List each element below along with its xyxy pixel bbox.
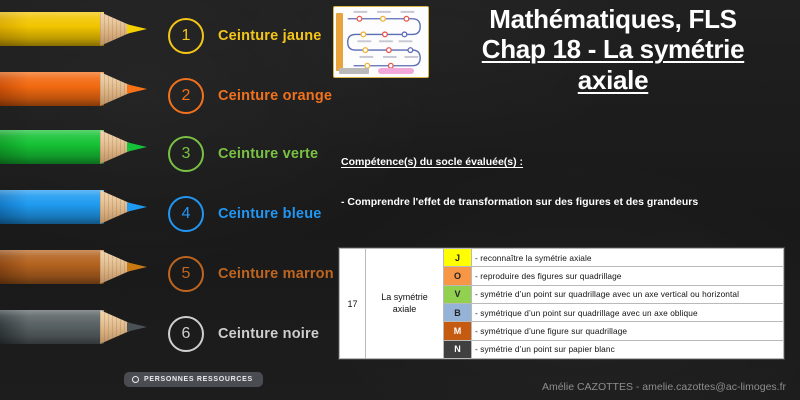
pencil-body (0, 130, 104, 164)
thumbnail-sidebar (336, 13, 343, 71)
table-letter-cell-B: B (444, 303, 472, 321)
pencil-lead (127, 72, 147, 106)
belt-item-4[interactable]: 4Ceinture bleue (168, 196, 322, 232)
skills-table: 17La symétrie axialeJ- reconnaître la sy… (339, 248, 784, 359)
pencil-jaune (0, 12, 148, 46)
title-line-3: axiale (430, 65, 796, 95)
table-letter-cell-M: M (444, 322, 472, 340)
belt-item-5[interactable]: 5Ceinture marron (168, 256, 334, 292)
belt-number-circle: 1 (168, 18, 204, 54)
belt-label: Ceinture bleue (218, 206, 322, 222)
belt-number-circle: 5 (168, 256, 204, 292)
table-letter-cell-V: V (444, 285, 472, 303)
belt-number-circle: 6 (168, 316, 204, 352)
belt-number-circle: 3 (168, 136, 204, 172)
pencil-body (0, 250, 104, 284)
pencil-orange (0, 72, 148, 106)
table-index-cell: 17 (340, 249, 366, 359)
author-footer: Amélie CAZOTTES - amelie.cazottes@ac-lim… (0, 381, 786, 393)
table-letter-cell-O: O (444, 267, 472, 285)
pencil-body (0, 72, 104, 106)
table-description-cell: - reproduire des figures sur quadrillage (472, 267, 784, 285)
pencil-lead (127, 250, 147, 284)
thumbnail-grey-bar (339, 68, 369, 74)
belt-item-1[interactable]: 1Ceinture jaune (168, 18, 322, 54)
table-letter-cell-N: N (444, 340, 472, 358)
pencil-body (0, 310, 104, 344)
table-description-cell: - reconnaître la symétrie axiale (472, 249, 784, 267)
thumbnail-pink-bar (378, 68, 414, 74)
roadmap-diagram-icon (334, 7, 428, 78)
pencil-bleue (0, 190, 148, 224)
table-description-cell: - symétrie d’un point sur papier blanc (472, 340, 784, 358)
pencil-lead (127, 310, 147, 344)
pencil-lead (127, 190, 147, 224)
page-title: Mathématiques, FLS Chap 18 - La symétrie… (430, 4, 796, 95)
table-topic-cell: La symétrie axiale (366, 249, 444, 359)
belt-number-circle: 4 (168, 196, 204, 232)
pencil-verte (0, 130, 148, 164)
belt-label: Ceinture jaune (218, 28, 322, 44)
competence-heading: Compétence(s) du socle évaluée(s) : (341, 156, 523, 168)
table-description-cell: - symétrique d’un point sur quadrillage … (472, 303, 784, 321)
pencil-lead (127, 130, 147, 164)
belt-label: Ceinture verte (218, 146, 318, 162)
pencil-body (0, 190, 104, 224)
belt-label: Ceinture orange (218, 88, 332, 104)
pencil-stack (0, 0, 168, 400)
belt-item-3[interactable]: 3Ceinture verte (168, 136, 318, 172)
title-line-2: Chap 18 - La symétrie (430, 34, 796, 64)
pencil-lead (127, 12, 147, 46)
table-description-cell: - symétrique d’une figure sur quadrillag… (472, 322, 784, 340)
belt-label: Ceinture noire (218, 326, 319, 342)
title-line-1: Mathématiques, FLS (430, 4, 796, 34)
table-letter-cell-J: J (444, 249, 472, 267)
pencil-marron (0, 250, 148, 284)
roadmap-thumbnail[interactable] (333, 6, 429, 78)
table-description-cell: - symétrie d’un point sur quadrillage av… (472, 285, 784, 303)
belt-list: 1Ceinture jaune2Ceinture orange3Ceinture… (168, 0, 348, 400)
belt-label: Ceinture marron (218, 266, 334, 282)
table-row: 17La symétrie axialeJ- reconnaître la sy… (340, 249, 784, 267)
belt-number-circle: 2 (168, 78, 204, 114)
skills-table-container: 17La symétrie axialeJ- reconnaître la sy… (338, 247, 785, 360)
pencil-noire (0, 310, 148, 344)
belt-item-6[interactable]: 6Ceinture noire (168, 316, 319, 352)
belt-item-2[interactable]: 2Ceinture orange (168, 78, 332, 114)
pencil-body (0, 12, 104, 46)
competence-item: - Comprendre l'effet de transformation s… (341, 196, 698, 208)
